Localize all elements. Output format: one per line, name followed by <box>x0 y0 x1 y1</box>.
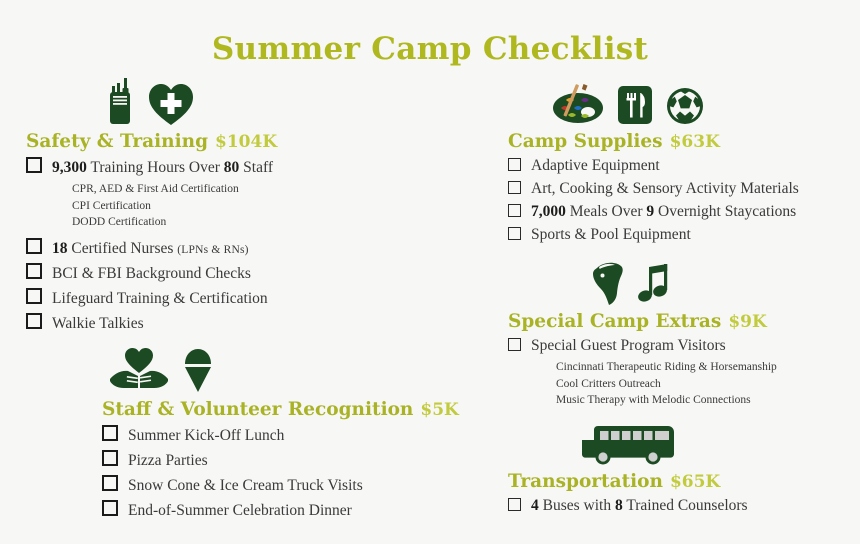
list-item-label: BCI & FBI Background Checks <box>52 264 251 285</box>
checkbox[interactable] <box>102 450 118 466</box>
list-item-label: Sports & Pool Equipment <box>531 225 691 246</box>
list-item[interactable]: Summer Kick-Off Lunch <box>102 424 442 447</box>
checkbox[interactable] <box>26 313 42 329</box>
checkbox[interactable] <box>102 500 118 516</box>
item-bold-number: 9 <box>646 203 654 220</box>
list-item[interactable]: Walkie Talkies <box>26 312 277 335</box>
staff-heading: Staff & Volunteer Recognition$5K <box>102 400 442 420</box>
list-item[interactable]: 7,000 Meals Over 9 Overnight Staycations <box>508 202 799 223</box>
list-item[interactable]: Lifeguard Training & Certification <box>26 287 277 310</box>
checkbox[interactable] <box>508 204 521 217</box>
checkbox[interactable] <box>508 227 521 240</box>
school-bus-icon <box>580 424 676 466</box>
checkbox[interactable] <box>26 157 42 173</box>
list-item[interactable]: BCI & FBI Background Checks <box>26 262 277 285</box>
item-bold-number: 80 <box>224 159 240 176</box>
infographic-page: Summer Camp Checklist <box>0 0 860 544</box>
section-staff-recognition: Staff & Volunteer Recognition$5K Summer … <box>102 346 442 524</box>
safety-icon-row <box>26 78 277 126</box>
list-item-label: Pizza Parties <box>128 451 208 472</box>
supplies-heading: Camp Supplies$63K <box>508 132 799 152</box>
heart-medical-cross-icon <box>148 82 194 126</box>
ice-cream-cone-icon <box>182 348 214 394</box>
walkie-talkie-icon <box>106 78 136 126</box>
checkbox[interactable] <box>26 238 42 254</box>
subnote: DODD Certification <box>72 214 277 230</box>
hands-holding-heart-icon <box>108 348 170 394</box>
extras-icon-row <box>508 258 777 306</box>
checkbox[interactable] <box>26 263 42 279</box>
paint-palette-icon <box>552 82 604 126</box>
staff-amount: $5K <box>420 400 458 420</box>
list-item[interactable]: 18 Certified Nurses (LPNs & RNs) <box>26 237 277 260</box>
list-item-label: Lifeguard Training & Certification <box>52 289 268 310</box>
horse-head-icon <box>590 260 626 306</box>
list-item-label: Snow Cone & Ice Cream Truck Visits <box>128 476 363 497</box>
staff-item-list: Summer Kick-Off Lunch Pizza Parties Snow… <box>102 424 442 522</box>
list-item[interactable]: Art, Cooking & Sensory Activity Material… <box>508 179 799 200</box>
checkbox[interactable] <box>102 425 118 441</box>
music-note-icon <box>638 262 672 306</box>
extras-heading: Special Camp Extras$9K <box>508 312 777 332</box>
list-item-label: Special Guest Program Visitors <box>531 336 726 357</box>
item-bold-number: 7,000 <box>531 203 566 220</box>
list-item[interactable]: 4 Buses with 8 Trained Counselors <box>508 496 748 517</box>
section-safety-training: Safety & Training$104K 9,300 Training Ho… <box>26 78 277 337</box>
list-item[interactable]: Snow Cone & Ice Cream Truck Visits <box>102 474 442 497</box>
safety-subnotes: CPR, AED & First Aid Certification CPI C… <box>72 181 277 230</box>
section-camp-supplies: Camp Supplies$63K Adaptive Equipment Art… <box>508 78 799 248</box>
list-item-label: 18 Certified Nurses (LPNs & RNs) <box>52 239 249 260</box>
safety-amount: $104K <box>215 132 277 152</box>
transport-item-list: 4 Buses with 8 Trained Counselors <box>508 496 748 517</box>
list-item-label: End-of-Summer Celebration Dinner <box>128 501 352 522</box>
list-item[interactable]: Pizza Parties <box>102 449 442 472</box>
list-item-label: Art, Cooking & Sensory Activity Material… <box>531 179 799 200</box>
checkbox[interactable] <box>508 158 521 171</box>
transport-heading: Transportation$65K <box>508 472 748 492</box>
subnote: Cincinnati Therapeutic Riding & Horseman… <box>556 359 777 375</box>
page-title: Summer Camp Checklist <box>0 0 860 65</box>
list-item-label: 9,300 Training Hours Over 80 Staff <box>52 158 273 179</box>
list-item-label: Summer Kick-Off Lunch <box>128 426 284 447</box>
supplies-item-list: Adaptive Equipment Art, Cooking & Sensor… <box>508 156 799 246</box>
list-item-label: 4 Buses with 8 Trained Counselors <box>531 496 748 517</box>
item-bold-number: 9,300 <box>52 159 87 176</box>
safety-heading: Safety & Training$104K <box>26 132 277 152</box>
checkbox[interactable] <box>102 475 118 491</box>
extras-subnotes: Cincinnati Therapeutic Riding & Horseman… <box>556 359 777 408</box>
section-transportation: Transportation$65K 4 Buses with 8 Traine… <box>508 418 748 519</box>
item-bold-number: 8 <box>615 497 623 514</box>
transport-icon-row <box>508 418 748 466</box>
soccer-ball-icon <box>666 86 704 126</box>
extras-amount: $9K <box>728 312 766 332</box>
list-item-label: 7,000 Meals Over 9 Overnight Staycations <box>531 202 796 223</box>
subnote: Cool Critters Outreach <box>556 376 777 392</box>
checkbox[interactable] <box>508 181 521 194</box>
supplies-icon-row <box>508 78 799 126</box>
checkbox[interactable] <box>26 288 42 304</box>
item-bold-number: 4 <box>531 497 539 514</box>
list-item[interactable]: Special Guest Program Visitors <box>508 336 777 357</box>
staff-icon-row <box>102 346 442 394</box>
item-bold-number: 18 <box>52 240 68 257</box>
list-item[interactable]: Sports & Pool Equipment <box>508 225 799 246</box>
list-item[interactable]: Adaptive Equipment <box>508 156 799 177</box>
checkbox[interactable] <box>508 338 521 351</box>
list-item-label: Adaptive Equipment <box>531 156 660 177</box>
safety-item-list: 9,300 Training Hours Over 80 Staff CPR, … <box>26 156 277 335</box>
list-item-label: Walkie Talkies <box>52 314 144 335</box>
subnote: Music Therapy with Melodic Connections <box>556 392 777 408</box>
list-item[interactable]: End-of-Summer Celebration Dinner <box>102 499 442 522</box>
subnote: CPI Certification <box>72 198 277 214</box>
fork-knife-icon <box>616 84 654 126</box>
list-item[interactable]: 9,300 Training Hours Over 80 Staff <box>26 156 277 179</box>
subnote: CPR, AED & First Aid Certification <box>72 181 277 197</box>
supplies-amount: $63K <box>670 132 720 152</box>
checkbox[interactable] <box>508 498 521 511</box>
item-note: (LPNs & RNs) <box>177 244 248 256</box>
transport-amount: $65K <box>670 472 720 492</box>
extras-item-list: Special Guest Program Visitors Cincinnat… <box>508 336 777 408</box>
section-special-camp-extras: Special Camp Extras$9K Special Guest Pro… <box>508 258 777 415</box>
